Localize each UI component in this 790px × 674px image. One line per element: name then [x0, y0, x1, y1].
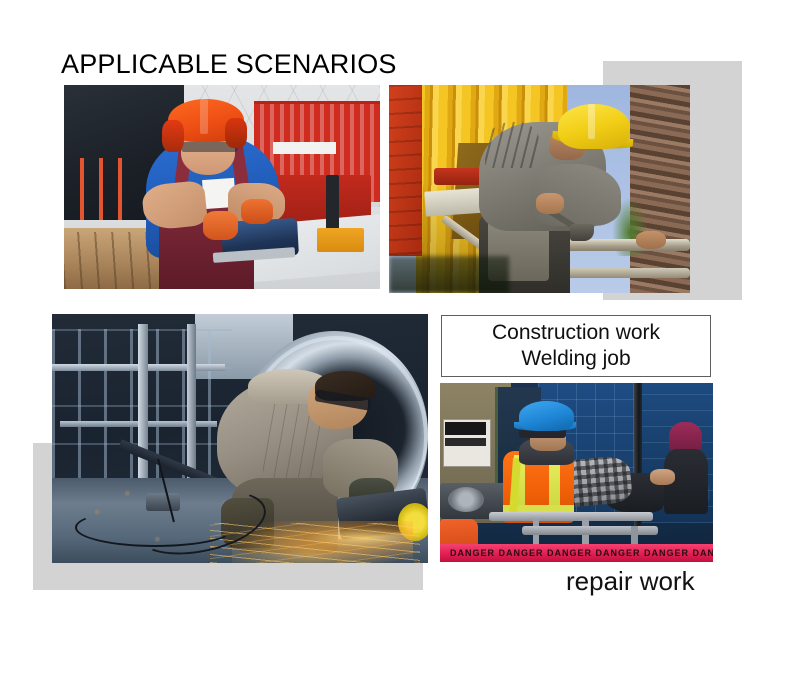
sweatshirt-stripes: [485, 122, 539, 168]
caption-line-welding-job: Welding job: [521, 346, 630, 372]
caption-line-construction-work: Construction work: [492, 320, 660, 346]
hammer-head: [570, 224, 594, 241]
rack-post-left: [138, 324, 148, 503]
hard-hat-crest: [588, 104, 596, 139]
photo-angle-grinder-worker: [52, 314, 428, 563]
photo-formwork-worker: [389, 85, 690, 293]
bench-leg-3: [631, 526, 638, 544]
photo-power-tool-worker: [64, 85, 380, 289]
caption-repair-work: repair work: [566, 566, 695, 596]
orange-barrier: [80, 158, 137, 219]
wooden-post: [630, 85, 690, 293]
worker-hand-on-rail: [636, 231, 666, 250]
scenario-caption-box: Construction work Welding job: [441, 315, 711, 377]
machine-drum: [448, 487, 483, 512]
worker-hand: [650, 469, 675, 485]
orange-glove-right: [241, 199, 273, 223]
lift-label-plate: [273, 142, 336, 154]
orange-clamp-tool: [317, 228, 364, 252]
metal-bench-upper: [489, 512, 653, 521]
ear-muff-left: [162, 120, 184, 153]
hard-hat-crest: [200, 99, 208, 134]
blue-hard-hat: [519, 401, 574, 431]
worker-hand-on-hammer: [536, 193, 563, 214]
foreground-blur: [389, 256, 509, 293]
red-rusted-post: [389, 85, 422, 256]
orange-glove-left: [203, 211, 238, 240]
scaffold-rail-lower: [564, 268, 690, 278]
danger-tape-text: DANGER DANGER DANGER DANGER DANGER DAN: [440, 544, 713, 562]
page-title: APPLICABLE SCENARIOS: [61, 48, 397, 80]
warning-sign-subheader: [445, 438, 486, 445]
metal-bench-lower: [522, 526, 659, 535]
photo-repair-site-worker: DANGER DANGER DANGER DANGER DANGER DAN: [440, 383, 713, 562]
ear-muff-right: [225, 118, 247, 149]
slide-canvas: APPLICABLE SCENARIOS: [0, 0, 790, 674]
tool-stand: [326, 175, 339, 232]
warning-sign-header: [445, 422, 486, 435]
